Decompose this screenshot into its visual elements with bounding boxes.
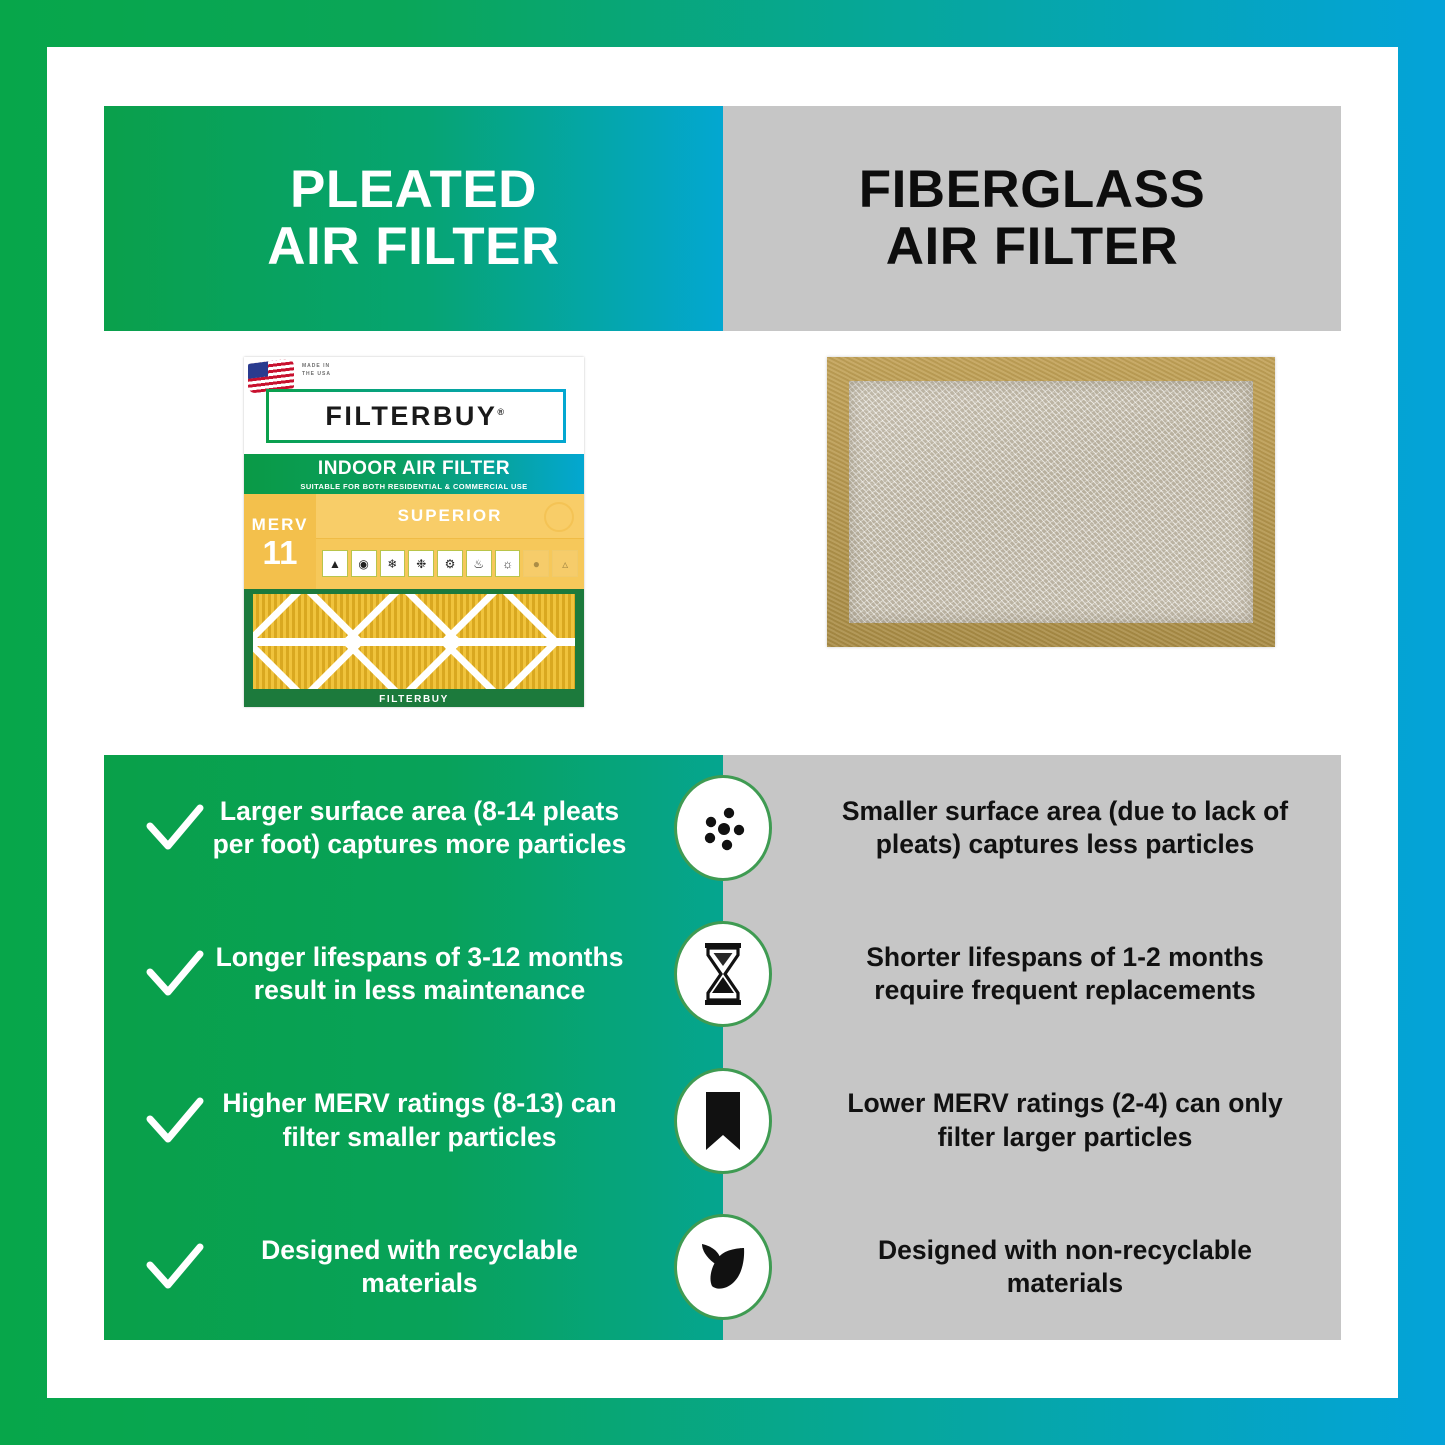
checkmark-icon: [144, 1095, 206, 1147]
tier-row: SUPERIOR: [316, 494, 584, 539]
row-right-text: Designed with non-recyclable materials: [819, 1234, 1311, 1301]
smoke-icon: ☼: [495, 550, 521, 577]
tier-label: SUPERIOR: [398, 506, 503, 526]
row-left-text: Longer lifespans of 3-12 months result i…: [212, 941, 627, 1008]
box-band-title: INDOOR AIR FILTER: [318, 458, 510, 480]
row-left-cell: Designed with recyclable materials: [104, 1234, 723, 1301]
row-right-cell: Designed with non-recyclable materials: [723, 1234, 1341, 1301]
bookmark-icon: [674, 1068, 772, 1174]
box-gradient-band: INDOOR AIR FILTER SUITABLE FOR BOTH RESI…: [244, 454, 584, 494]
voc-icon: ▵: [552, 550, 578, 577]
particles-icon: [674, 775, 772, 881]
box-top-section: MADE IN THE USA FILTERBUY®: [244, 357, 584, 454]
hourglass-icon: [674, 921, 772, 1027]
row-left-cell: Longer lifespans of 3-12 months result i…: [104, 941, 723, 1008]
comparison-row: Larger surface area (8-14 pleats per foo…: [104, 755, 1341, 901]
capability-icon-strip: ▲ ◉ ❄ ❉ ⚙ ♨ ☼ ● ▵: [322, 542, 578, 585]
checkmark-icon: [144, 802, 206, 854]
product-images-row: MADE IN THE USA FILTERBUY® INDOOR AIR FI…: [104, 331, 1341, 755]
header-fiberglass-title: FIBERGLASS AIR FILTER: [859, 162, 1206, 274]
comparison-row: Longer lifespans of 3-12 months result i…: [104, 901, 1341, 1047]
support-diamond: [439, 594, 561, 689]
header-pleated-title: PLEATED AIR FILTER: [267, 162, 560, 274]
odor-icon: ●: [523, 550, 549, 577]
header-band: PLEATED AIR FILTER FIBERGLASS AIR FILTER: [104, 106, 1341, 331]
checkmark-icon: [144, 948, 206, 1000]
brand-name-text: FILTERBUY: [325, 401, 497, 431]
leaf-icon: [674, 1214, 772, 1320]
row-right-text: Smaller surface area (due to lack of ple…: [819, 795, 1311, 862]
row-left-text: Higher MERV ratings (8-13) can filter sm…: [212, 1087, 627, 1154]
mold-icon: ❄: [380, 550, 406, 577]
row-right-text: Lower MERV ratings (2-4) can only filter…: [819, 1087, 1311, 1154]
header-pleated: PLEATED AIR FILTER: [104, 106, 723, 331]
row-right-cell: Lower MERV ratings (2-4) can only filter…: [723, 1087, 1341, 1154]
made-in-usa-label: MADE IN THE USA: [302, 363, 331, 378]
support-grid: [253, 594, 575, 689]
white-card: PLEATED AIR FILTER FIBERGLASS AIR FILTER…: [47, 47, 1398, 1398]
pet-dander-icon: ♨: [466, 550, 492, 577]
merv-badge: MERV 11: [244, 494, 316, 589]
fiberglass-filter-image: [827, 357, 1275, 647]
box-filter-media-view: FILTERBUY: [244, 589, 584, 707]
row-left-cell: Higher MERV ratings (8-13) can filter sm…: [104, 1087, 723, 1154]
row-right-cell: Smaller surface area (due to lack of ple…: [723, 795, 1341, 862]
brand-frame: FILTERBUY®: [266, 389, 566, 443]
fiberglass-media: [849, 381, 1253, 623]
comparison-row: Higher MERV ratings (8-13) can filter sm…: [104, 1048, 1341, 1194]
row-right-cell: Shorter lifespans of 1-2 months require …: [723, 941, 1341, 1008]
row-right-text: Shorter lifespans of 1-2 months require …: [819, 941, 1311, 1008]
bacteria-icon: ⚙: [437, 550, 463, 577]
row-left-cell: Larger surface area (8-14 pleats per foo…: [104, 795, 723, 862]
dust-icon: ▲: [322, 550, 348, 577]
infographic-page: PLEATED AIR FILTER FIBERGLASS AIR FILTER…: [0, 0, 1445, 1445]
checkmark-icon: [144, 1241, 206, 1293]
header-fiberglass: FIBERGLASS AIR FILTER: [723, 106, 1341, 331]
box-merv-section: MERV 11 SUPERIOR ▲ ◉ ❄ ❉ ⚙ ♨ ☼: [244, 494, 584, 589]
dustmite-icon: ◉: [351, 550, 377, 577]
brand-trademark-icon: ®: [497, 407, 506, 417]
comparison-section: Larger surface area (8-14 pleats per foo…: [104, 755, 1341, 1340]
ul-certification-icon: [544, 502, 574, 532]
merv-label: MERV: [252, 515, 309, 535]
pleated-filter-box-image: MADE IN THE USA FILTERBUY® INDOOR AIR FI…: [244, 357, 584, 707]
brand-name: FILTERBUY®: [325, 401, 506, 432]
box-bottom-brand: FILTERBUY: [244, 694, 584, 705]
merv-value: 11: [263, 536, 298, 569]
comparison-row: Designed with recyclable materials Desig…: [104, 1194, 1341, 1340]
pollen-icon: ❉: [408, 550, 434, 577]
box-band-subtitle: SUITABLE FOR BOTH RESIDENTIAL & COMMERCI…: [300, 482, 527, 491]
comparison-rows: Larger surface area (8-14 pleats per foo…: [104, 755, 1341, 1340]
row-left-text: Larger surface area (8-14 pleats per foo…: [212, 795, 627, 862]
row-left-text: Designed with recyclable materials: [212, 1234, 627, 1301]
